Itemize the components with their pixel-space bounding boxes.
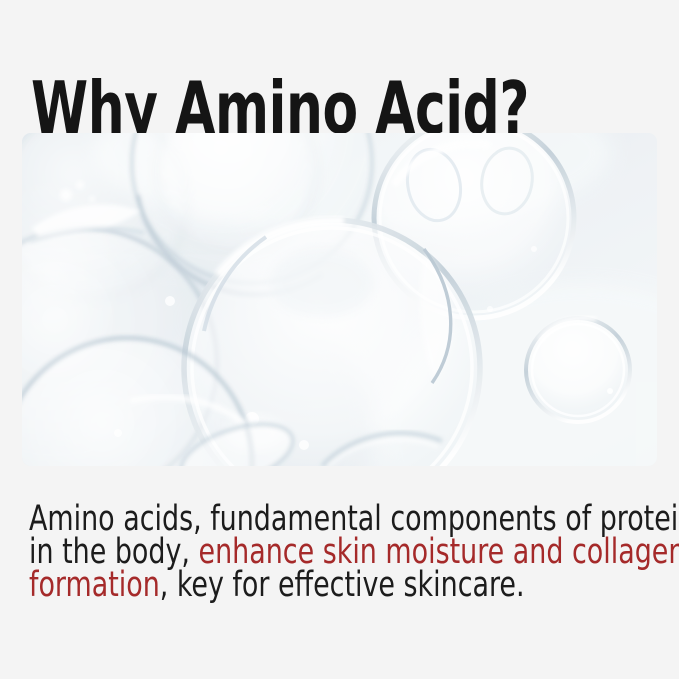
bubbles-image	[22, 133, 657, 466]
page-root: Why Amino Acid?	[0, 0, 679, 679]
caption-text: Amino acids, fundamental components of p…	[29, 503, 563, 602]
caption-line-3: formation, key for effective skincare.	[29, 569, 563, 602]
caption-highlight: formation	[29, 565, 160, 605]
bubbles-illustration	[22, 133, 657, 466]
caption-segment: , key for effective skincare.	[160, 565, 525, 605]
